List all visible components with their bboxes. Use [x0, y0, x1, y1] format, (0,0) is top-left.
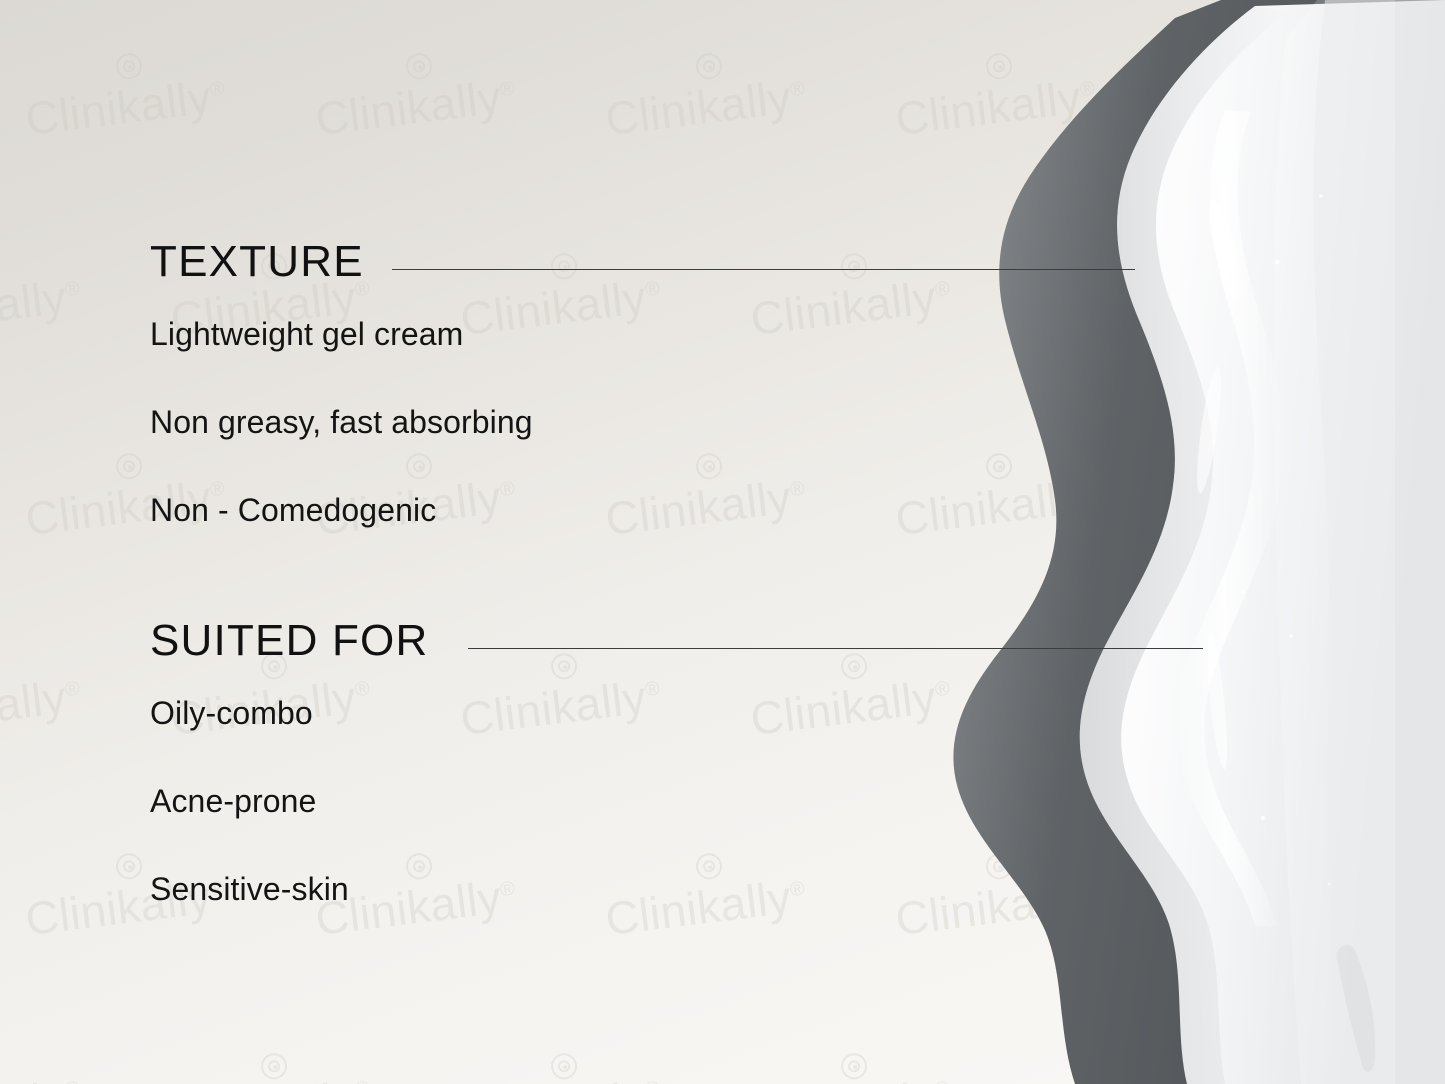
watermark-trademark-icon: ®	[1079, 78, 1097, 102]
list-item: Acne-prone	[150, 781, 349, 821]
watermark-clinikally: Clinikally®	[0, 668, 84, 746]
watermark-brand-text: Clinikally	[1183, 471, 1374, 545]
concentric-circles-logo-icon	[1130, 1052, 1159, 1081]
section-suited-for-header: SUITED FOR	[150, 615, 1050, 677]
section-texture-header: TEXTURE	[150, 236, 1050, 298]
watermark-clinikally: Clinikally®	[1037, 268, 1244, 346]
list-item: Non greasy, fast absorbing	[150, 402, 533, 442]
concentric-circles-logo-icon	[115, 852, 144, 881]
section-texture-bullet-list: Lightweight gel cream Non greasy, fast a…	[150, 314, 533, 530]
watermark-brand-text: Clinikally	[1038, 671, 1229, 745]
watermark-trademark-icon: ®	[1079, 878, 1097, 902]
watermark-brand-text: Clinikally	[1183, 871, 1374, 945]
watermark-brand-text: Clinikally	[1038, 1071, 1229, 1084]
watermark-clinikally: Clinikally®	[1327, 668, 1445, 746]
concentric-circles-logo-icon	[115, 52, 144, 81]
watermark-trademark-icon: ®	[1079, 478, 1097, 502]
watermark-trademark-icon: ®	[1369, 478, 1387, 502]
watermark-brand-text: Clinikally	[1328, 671, 1445, 745]
section-suited-for-title: SUITED FOR	[150, 615, 428, 667]
infographic-canvas: Clinikally®Clinikally®Clinikally®Clinika…	[0, 0, 1445, 1084]
concentric-circles-logo-icon	[1420, 252, 1445, 281]
watermark-brand-text: Clinikally	[1038, 271, 1229, 345]
section-texture-divider-line	[392, 269, 1135, 270]
list-item: Oily-combo	[150, 693, 349, 733]
watermark-trademark-icon: ®	[1224, 278, 1242, 302]
watermark-clinikally: Clinikally®	[1327, 268, 1445, 346]
watermark-brand-text: Clinikally	[1328, 1071, 1445, 1084]
section-texture-title: TEXTURE	[150, 236, 364, 288]
watermark-clinikally: Clinikally®	[1327, 1068, 1445, 1084]
concentric-circles-logo-icon	[1420, 652, 1445, 681]
watermark-brand-text: Clinikally	[1183, 71, 1374, 145]
concentric-circles-logo-icon	[115, 452, 144, 481]
watermark-clinikally: Clinikally®	[1037, 668, 1244, 746]
watermark-trademark-icon: ®	[64, 678, 82, 702]
concentric-circles-logo-icon	[1420, 1052, 1445, 1081]
watermark-clinikally: Clinikally®	[1182, 468, 1389, 546]
concentric-circles-logo-icon	[1275, 452, 1304, 481]
list-item: Lightweight gel cream	[150, 314, 533, 354]
watermark-trademark-icon: ®	[1224, 1078, 1242, 1084]
watermark-trademark-icon: ®	[64, 278, 82, 302]
section-suited-for-bullet-list: Oily-combo Acne-prone Sensitive-skin	[150, 693, 349, 909]
watermark-trademark-icon: ®	[1224, 678, 1242, 702]
watermark-clinikally: Clinikally®	[0, 268, 84, 346]
watermark-clinikally: Clinikally®	[1037, 1068, 1244, 1084]
list-item: Sensitive-skin	[150, 869, 349, 909]
section-suited-for: SUITED FOR Oily-combo Acne-prone Sensiti…	[150, 615, 1050, 677]
watermark-trademark-icon: ®	[1369, 78, 1387, 102]
watermark-clinikally: Clinikally®	[1182, 868, 1389, 946]
concentric-circles-logo-icon	[1130, 252, 1159, 281]
concentric-circles-logo-icon	[1275, 52, 1304, 81]
watermark-brand-text: Clinikally	[1328, 271, 1445, 345]
watermark-brand-text: Clinikally	[0, 1071, 69, 1084]
infographic-content: TEXTURE Lightweight gel cream Non greasy…	[150, 0, 1050, 1084]
watermark-brand-text: Clinikally	[0, 671, 69, 745]
section-texture: TEXTURE Lightweight gel cream Non greasy…	[150, 236, 1050, 298]
watermark-clinikally: Clinikally®	[0, 1068, 84, 1084]
watermark-clinikally: Clinikally®	[1182, 68, 1389, 146]
section-suited-for-divider-line	[468, 648, 1203, 649]
watermark-brand-text: Clinikally	[0, 271, 69, 345]
watermark-trademark-icon: ®	[1369, 878, 1387, 902]
watermark-trademark-icon: ®	[64, 1078, 82, 1084]
concentric-circles-logo-icon	[1275, 852, 1304, 881]
concentric-circles-logo-icon	[1130, 652, 1159, 681]
list-item: Non - Comedogenic	[150, 490, 533, 530]
